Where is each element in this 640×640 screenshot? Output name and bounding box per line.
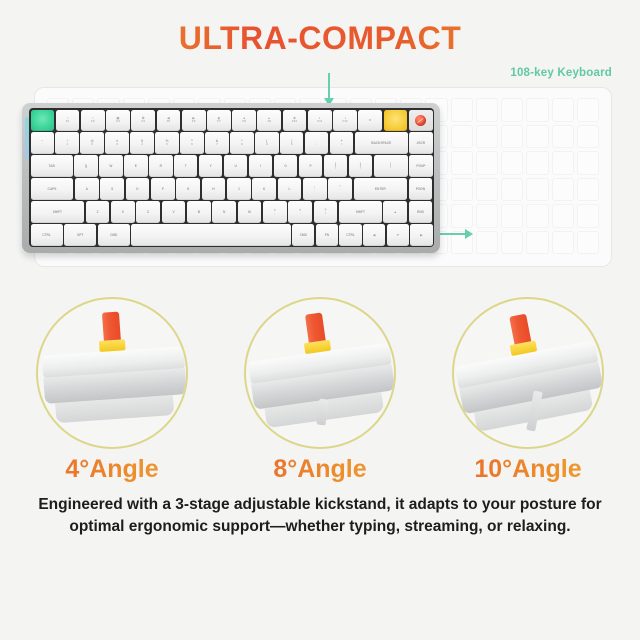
key-legend-primary: B: [198, 210, 200, 214]
key-pageup[interactable]: PGUP: [409, 155, 432, 176]
key-printscreen[interactable]: #SCR: [409, 132, 432, 153]
key-fn[interactable]: FN: [316, 224, 338, 245]
key-legend-primary: PGUP: [416, 164, 425, 168]
key-legend-primary: TAB: [48, 164, 54, 168]
key-bracket-right[interactable]: }]: [349, 155, 372, 176]
arrow-right-icon: [440, 233, 466, 235]
key-tilde[interactable]: ~`: [31, 132, 54, 153]
angle-label: 8°Angle: [222, 455, 418, 484]
ghost-key: [577, 98, 599, 122]
key-u[interactable]: U: [224, 155, 247, 176]
key-legend-primary: N: [223, 210, 225, 214]
key-enter[interactable]: ENTER: [354, 178, 408, 199]
key-legend-secondary: 9: [266, 143, 268, 147]
ghost-keyboard-label: 108-key Keyboard: [510, 67, 612, 79]
key-legend-secondary: -: [316, 143, 317, 147]
ghost-key: [577, 231, 599, 255]
key-backslash[interactable]: |\: [374, 155, 408, 176]
key-legend-secondary: ;: [314, 189, 315, 193]
switch-illustration: [97, 311, 126, 352]
key-arrow-right[interactable]: ▶: [410, 224, 432, 245]
key-legend-primary: X: [122, 210, 124, 214]
key-esc[interactable]: [31, 110, 55, 131]
keyboard-row: CTRLOPTCMDCMDFNCTRL◀▼▶: [31, 224, 433, 245]
key-f10[interactable]: ✲F10: [283, 110, 307, 131]
key-legend-primary: CTRL: [42, 233, 51, 237]
key-slash[interactable]: ?/: [314, 201, 338, 222]
key-s[interactable]: S: [100, 178, 124, 199]
angle-label: 10°Angle: [430, 455, 626, 484]
key-legend-secondary: F1: [66, 120, 70, 124]
key-l[interactable]: L: [278, 178, 302, 199]
ghost-key: [526, 178, 548, 202]
key-v[interactable]: V: [162, 201, 186, 222]
key-f12[interactable]: ◑F12: [333, 110, 357, 131]
key-quote[interactable]: "': [328, 178, 352, 199]
keyboard-row: SHIFTZXCVBNM<,>.?/SHIFT▲END: [31, 201, 433, 222]
key-c[interactable]: C: [136, 201, 160, 222]
key-legend-primary: U: [234, 164, 236, 168]
key-bracket-left[interactable]: {[: [324, 155, 347, 176]
key-legend-secondary: F6: [192, 120, 196, 124]
key-legend-primary: G: [187, 187, 189, 191]
key-4[interactable]: $4: [130, 132, 153, 153]
key-f3[interactable]: ▤F3: [106, 110, 130, 131]
key-legend-primary: ENTER: [375, 187, 386, 191]
key-legend-primary: O: [284, 164, 286, 168]
key-e[interactable]: E: [124, 155, 147, 176]
key-f1[interactable]: ☼F1: [56, 110, 80, 131]
ghost-key: [451, 98, 473, 122]
ghost-key: [526, 98, 548, 122]
key-arrow-down[interactable]: ▼: [387, 224, 409, 245]
angle-label: 4°Angle: [14, 455, 210, 484]
ghost-key: [501, 231, 523, 255]
key-legend-primary: A: [86, 187, 88, 191]
key-legend-primary: SHIFT: [53, 210, 62, 214]
ghost-key: [451, 151, 473, 175]
key-legend-primary: W: [109, 164, 112, 168]
key-n[interactable]: N: [212, 201, 236, 222]
key-shift-left[interactable]: SHIFT: [31, 201, 85, 222]
ghost-key: [476, 125, 498, 149]
key-y[interactable]: Y: [199, 155, 222, 176]
key-legend-secondary: ': [340, 189, 341, 193]
key-legend-secondary: F2: [91, 120, 95, 124]
key-spacebar[interactable]: [131, 224, 290, 245]
key-legend-primary: I: [260, 164, 261, 168]
ghost-key: [476, 231, 498, 255]
key-legend-secondary: ]: [360, 166, 361, 170]
keyboard-side-accent: [25, 117, 29, 159]
kickstand-foot: [316, 399, 328, 426]
key-f11[interactable]: ◐F11: [308, 110, 332, 131]
key-k[interactable]: K: [252, 178, 276, 199]
key-comma[interactable]: <,: [263, 201, 287, 222]
key-f8[interactable]: ◂F8: [232, 110, 256, 131]
key-ctrl-left[interactable]: CTRL: [31, 224, 63, 245]
key-f5[interactable]: ◀F5: [157, 110, 181, 131]
key-legend-secondary: 4: [141, 143, 143, 147]
key-f4[interactable]: ✇F4: [131, 110, 155, 131]
key-9[interactable]: (9: [255, 132, 278, 153]
key-g[interactable]: G: [176, 178, 200, 199]
key-z[interactable]: Z: [86, 201, 110, 222]
key-snip[interactable]: ⌗: [358, 110, 382, 131]
ghost-key: [451, 204, 473, 228]
ghost-key: [526, 231, 548, 255]
ghost-key: [552, 178, 574, 202]
key-legend-secondary: 0: [291, 143, 293, 147]
key-end[interactable]: END: [409, 201, 433, 222]
ghost-key: [501, 125, 523, 149]
key-h[interactable]: H: [202, 178, 226, 199]
key-pagedown[interactable]: PGDN: [409, 178, 433, 199]
key-volume-knob[interactable]: [409, 110, 433, 131]
keyboard-side-view: [42, 346, 188, 424]
key-f[interactable]: F: [151, 178, 175, 199]
key-legend-secondary: =: [341, 143, 343, 147]
key-j[interactable]: J: [227, 178, 251, 199]
angle-gallery: 4°Angle8°Angle10°Angle: [0, 297, 640, 484]
key-0[interactable]: )0: [280, 132, 303, 153]
key-legend-primary: F: [162, 187, 164, 191]
key-b[interactable]: B: [187, 201, 211, 222]
ghost-key: [552, 98, 574, 122]
volume-knob-icon[interactable]: [415, 115, 426, 126]
ghost-key: [552, 204, 574, 228]
key-legend-primary: Q: [85, 164, 87, 168]
ghost-key: [526, 151, 548, 175]
ghost-key: [552, 125, 574, 149]
hero-section: 108-key Keyboard ☼F1☼F2▤F3✇F4◀F5▶F6▮F7◂F…: [0, 65, 640, 295]
keyboard-row: TABQWERTYUIOP{[}]|\PGUP: [31, 155, 433, 176]
key-3[interactable]: #3: [105, 132, 128, 153]
key-legend-primary: L: [288, 187, 290, 191]
key-1[interactable]: !1: [55, 132, 78, 153]
key-legend-secondary: 5: [166, 143, 168, 147]
key-r[interactable]: R: [149, 155, 172, 176]
angle-option-4: 4°Angle: [14, 297, 210, 484]
key-legend-primary: CAPS: [48, 187, 57, 191]
key-i[interactable]: I: [249, 155, 272, 176]
key-legend-secondary: ,: [274, 212, 275, 216]
switch-illustration: [504, 313, 537, 356]
key-legend-primary: FN: [325, 233, 329, 237]
ghost-key: [476, 178, 498, 202]
key-legend-primary: CTRL: [346, 233, 355, 237]
key-legend-secondary: 8: [241, 143, 243, 147]
ghost-key: [577, 204, 599, 228]
keyboard-row: ☼F1☼F2▤F3✇F4◀F5▶F6▮F7◂F8▸F9✲F10◐F11◑F12⌗: [31, 110, 433, 131]
key-ctrl-right[interactable]: CTRL: [339, 224, 361, 245]
key-legend-primary: D: [136, 187, 138, 191]
arrow-down-icon: [328, 73, 330, 99]
key-legend-primary: PGDN: [416, 187, 425, 191]
ghost-key: [526, 204, 548, 228]
key-legend-secondary: 6: [191, 143, 193, 147]
key-legend-secondary: 3: [116, 143, 118, 147]
key-legend-primary: E: [135, 164, 137, 168]
key-m[interactable]: M: [238, 201, 262, 222]
key-f2[interactable]: ☼F2: [81, 110, 105, 131]
keyboard-row: CAPSASDFGHJKL:;"'ENTERPGDN: [31, 178, 433, 199]
ghost-key: [501, 204, 523, 228]
key-legend-primary: CMD: [110, 233, 117, 237]
key-7[interactable]: &7: [205, 132, 228, 153]
page-title: ULTRA-COMPACT: [0, 0, 640, 57]
key-legend-primary: ▶: [420, 233, 422, 237]
keyboard-plate: ☼F1☼F2▤F3✇F4◀F5▶F6▮F7◂F8▸F9✲F10◐F11◑F12⌗…: [29, 108, 434, 247]
key-legend-secondary: 1: [66, 143, 68, 147]
key-legend-secondary: F11: [317, 120, 322, 124]
ghost-key: [476, 98, 498, 122]
key-arrow-up[interactable]: ▲: [383, 201, 407, 222]
angle-illustration: [36, 297, 188, 449]
key-legend-secondary: 2: [91, 143, 93, 147]
key-legend-primary: M: [248, 210, 251, 214]
key-legend-primary: END: [417, 210, 424, 214]
key-legend-secondary: F12: [342, 120, 347, 124]
switch-housing-icon: [304, 340, 331, 355]
key-legend-primary: ▲: [394, 210, 397, 214]
key-legend-secondary: F4: [141, 120, 145, 124]
key-legend-secondary: F8: [242, 120, 246, 124]
key-legend-secondary: F7: [217, 120, 221, 124]
key-legend-secondary: [: [335, 166, 336, 170]
ghost-key: [552, 151, 574, 175]
key-period[interactable]: >.: [288, 201, 312, 222]
key-legend-primary: ◀: [373, 233, 375, 237]
key-legend-primary: #SCR: [417, 141, 426, 145]
key-legend-primary: S: [111, 187, 113, 191]
ghost-key: [476, 151, 498, 175]
key-legend-primary: C: [147, 210, 149, 214]
ghost-key: [501, 178, 523, 202]
key-legend-primary: ▼: [396, 233, 399, 237]
key-8[interactable]: *8: [230, 132, 253, 153]
key-cmd-left[interactable]: CMD: [98, 224, 130, 245]
angle-option-8: 8°Angle: [222, 297, 418, 484]
key-legend-secondary: F5: [167, 120, 171, 124]
ghost-key: [526, 125, 548, 149]
key-capslock[interactable]: CAPS: [31, 178, 74, 199]
feature-caption: Engineered with a 3-stage adjustable kic…: [34, 494, 606, 539]
key-cmd-right[interactable]: CMD: [292, 224, 314, 245]
key-legend-secondary: `: [42, 143, 43, 147]
key-legend-secondary: F9: [268, 120, 272, 124]
angle-illustration: [244, 297, 396, 449]
key-legend-primary: ⌗: [369, 118, 371, 122]
key-legend-primary: CMD: [300, 233, 307, 237]
key-o[interactable]: O: [274, 155, 297, 176]
angle-illustration: [452, 297, 604, 449]
ghost-key: [451, 125, 473, 149]
key-legend-primary: K: [263, 187, 265, 191]
key-2[interactable]: @2: [80, 132, 103, 153]
key-q[interactable]: Q: [74, 155, 97, 176]
ghost-key: [577, 178, 599, 202]
key-legend-primary: V: [172, 210, 174, 214]
key-d[interactable]: D: [126, 178, 150, 199]
key-equal[interactable]: +=: [330, 132, 353, 153]
compact-keyboard: ☼F1☼F2▤F3✇F4◀F5▶F6▮F7◂F8▸F9✲F10◐F11◑F12⌗…: [22, 103, 440, 253]
ghost-key: [552, 231, 574, 255]
key-legend-primary: H: [212, 187, 214, 191]
key-legend-primary: Z: [97, 210, 99, 214]
key-a[interactable]: A: [75, 178, 99, 199]
key-legend-primary: P: [309, 164, 311, 168]
key-legend-secondary: \: [390, 166, 391, 170]
key-legend-secondary: 7: [216, 143, 218, 147]
angle-option-10: 10°Angle: [430, 297, 626, 484]
ghost-key: [476, 204, 498, 228]
ghost-key: [501, 98, 523, 122]
key-legend-primary: J: [238, 187, 240, 191]
ghost-key: [501, 151, 523, 175]
ghost-key: [577, 125, 599, 149]
key-p[interactable]: P: [299, 155, 322, 176]
key-backspace[interactable]: BACKSPACE: [355, 132, 408, 153]
key-f9[interactable]: ▸F9: [257, 110, 281, 131]
key-legend-primary: SHIFT: [356, 210, 365, 214]
key-t[interactable]: T: [174, 155, 197, 176]
key-6[interactable]: ^6: [180, 132, 203, 153]
key-legend-primary: R: [160, 164, 162, 168]
keyboard-row: ~`!1@2#3$4%5^6&7*8(9)0_-+=BACKSPACE#SCR: [31, 132, 433, 153]
switch-stem-icon: [101, 312, 120, 343]
key-shift-right[interactable]: SHIFT: [339, 201, 382, 222]
key-x[interactable]: X: [111, 201, 135, 222]
switch-housing-icon: [99, 339, 126, 352]
switch-illustration: [300, 312, 331, 354]
key-semicolon[interactable]: :;: [303, 178, 327, 199]
key-legend-secondary: /: [325, 212, 326, 216]
key-w[interactable]: W: [99, 155, 122, 176]
key-legend-secondary: .: [300, 212, 301, 216]
ghost-key: [577, 151, 599, 175]
key-minus[interactable]: _-: [305, 132, 328, 153]
key-f6[interactable]: ▶F6: [182, 110, 206, 131]
key-5[interactable]: %5: [155, 132, 178, 153]
key-legend-secondary: F3: [116, 120, 120, 124]
key-legend-primary: T: [185, 164, 187, 168]
key-legend-primary: OPT: [77, 233, 84, 237]
key-yellow-macro[interactable]: [384, 110, 408, 131]
key-legend-primary: Y: [210, 164, 212, 168]
ghost-key: [451, 178, 473, 202]
key-tab[interactable]: TAB: [31, 155, 73, 176]
key-arrow-left[interactable]: ◀: [363, 224, 385, 245]
key-legend-primary: BACKSPACE: [371, 141, 391, 145]
key-f7[interactable]: ▮F7: [207, 110, 231, 131]
key-legend-secondary: F10: [292, 120, 297, 124]
key-opt-left[interactable]: OPT: [64, 224, 96, 245]
